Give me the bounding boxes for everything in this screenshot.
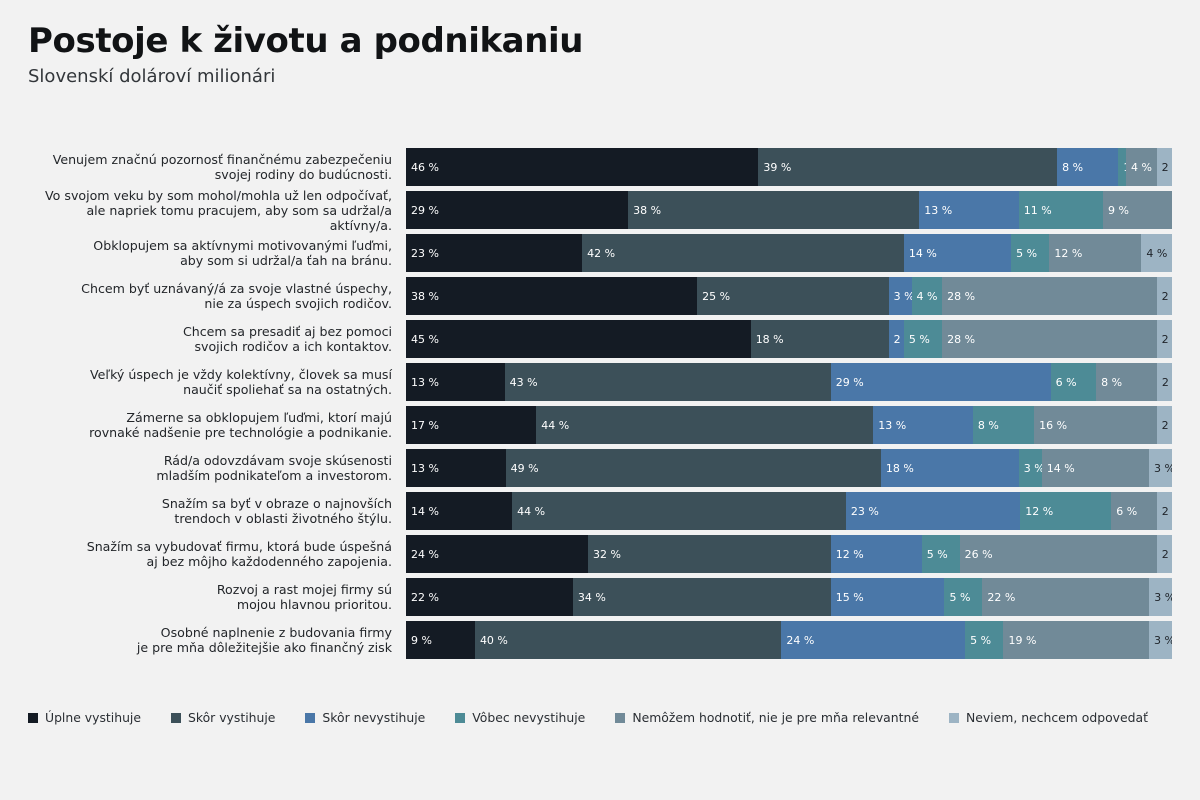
chart-subtitle: Slovenskí dolároví milionári — [28, 66, 583, 88]
chart-segment: 38 % — [628, 191, 919, 229]
chart-row-label: Vo svojom veku by som mohol/mohla už len… — [28, 188, 406, 233]
page-title: Postoje k životu a podnikaniu — [28, 22, 583, 60]
chart-row: Vo svojom veku by som mohol/mohla už len… — [28, 191, 1172, 229]
chart-row-label: Snažím sa byť v obraze o najnovších tren… — [28, 496, 406, 526]
chart-segment: 23 % — [846, 492, 1020, 530]
chart-row-label: Venujem značnú pozornosť finančnému zabe… — [28, 152, 406, 182]
chart-segment: 4 % — [912, 277, 943, 315]
chart-segment: 3 % — [1149, 578, 1172, 616]
chart-segment: 2 % — [1157, 277, 1172, 315]
chart-segment: 12 % — [1049, 234, 1141, 272]
chart-segment: 24 % — [406, 535, 588, 573]
chart-row: Rozvoj a rast mojej firmy sú mojou hlavn… — [28, 578, 1172, 616]
chart-bar: 9 %40 %24 %5 %19 %3 % — [406, 621, 1172, 659]
chart-bar: 17 %44 %13 %8 %16 %2 % — [406, 406, 1172, 444]
chart-page: Postoje k životu a podnikaniu Slovenskí … — [0, 0, 1200, 800]
legend-item-label: Vôbec nevystihuje — [472, 710, 585, 725]
chart-segment: 42 % — [582, 234, 904, 272]
chart-segment: 6 % — [1111, 492, 1157, 530]
chart-segment: 3 % — [1149, 621, 1172, 659]
chart-segment: 40 % — [475, 621, 781, 659]
chart-segment: 9 % — [406, 621, 475, 659]
chart-row: Snažím sa byť v obraze o najnovších tren… — [28, 492, 1172, 530]
chart-segment: 5 % — [922, 535, 960, 573]
chart-segment: 3 % — [1149, 449, 1172, 487]
stacked-bar-chart: Venujem značnú pozornosť finančnému zabe… — [28, 148, 1172, 664]
chart-bar: 46 %39 %8 %1 %4 %2 % — [406, 148, 1172, 186]
chart-segment: 23 % — [406, 234, 582, 272]
chart-segment: 18 % — [751, 320, 889, 358]
chart-bar: 22 %34 %15 %5 %22 %3 % — [406, 578, 1172, 616]
legend-item-label: Nemôžem hodnotiť, nie je pre mňa relevan… — [632, 710, 919, 725]
chart-segment: 24 % — [781, 621, 965, 659]
chart-segment: 2 % — [1157, 406, 1172, 444]
chart-segment: 44 % — [512, 492, 846, 530]
chart-segment: 14 % — [1042, 449, 1149, 487]
chart-bar: 38 %25 %3 %4 %28 %2 % — [406, 277, 1172, 315]
legend-swatch-icon — [455, 713, 465, 723]
chart-segment: 6 % — [1051, 363, 1097, 401]
chart-segment: 25 % — [697, 277, 889, 315]
chart-segment: 5 % — [1011, 234, 1049, 272]
chart-segment: 8 % — [1096, 363, 1157, 401]
legend-item-label: Skôr nevystihuje — [322, 710, 425, 725]
chart-segment: 28 % — [942, 320, 1156, 358]
chart-segment: 12 % — [831, 535, 922, 573]
chart-row-label: Obklopujem sa aktívnymi motivovanými ľuď… — [28, 238, 406, 268]
chart-segment: 4 % — [1141, 234, 1172, 272]
chart-row: Zámerne sa obklopujem ľuďmi, ktorí majú … — [28, 406, 1172, 444]
chart-segment: 1 % — [1118, 148, 1126, 186]
chart-bar: 13 %49 %18 %3 %14 %3 % — [406, 449, 1172, 487]
chart-segment: 14 % — [406, 492, 512, 530]
chart-bar: 14 %44 %23 %12 %6 %2 % — [406, 492, 1172, 530]
chart-row-label: Osobné naplnenie z budovania firmy je pr… — [28, 625, 406, 655]
chart-row-label: Chcem byť uznávaný/á za svoje vlastné ús… — [28, 281, 406, 311]
chart-segment: 28 % — [942, 277, 1156, 315]
chart-segment: 11 % — [1019, 191, 1103, 229]
legend-swatch-icon — [305, 713, 315, 723]
chart-segment: 5 % — [904, 320, 942, 358]
chart-segment: 2 % — [1157, 535, 1172, 573]
chart-segment: 8 % — [1057, 148, 1118, 186]
legend-item[interactable]: Nemôžem hodnotiť, nie je pre mňa relevan… — [615, 710, 919, 725]
chart-segment: 18 % — [881, 449, 1019, 487]
chart-segment: 39 % — [758, 148, 1057, 186]
chart-segment: 15 % — [831, 578, 945, 616]
chart-segment: 3 % — [889, 277, 912, 315]
chart-segment: 2 % — [1157, 492, 1172, 530]
chart-segment: 12 % — [1020, 492, 1111, 530]
chart-bar: 23 %42 %14 %5 %12 %4 % — [406, 234, 1172, 272]
chart-segment: 13 % — [406, 363, 505, 401]
chart-segment: 4 % — [1126, 148, 1157, 186]
chart-segment: 2 % — [1157, 320, 1172, 358]
chart-segment: 32 % — [588, 535, 831, 573]
chart-row-label: Snažím sa vybudovať firmu, ktorá bude ús… — [28, 539, 406, 569]
chart-bar: 24 %32 %12 %5 %26 %2 % — [406, 535, 1172, 573]
chart-segment: 19 % — [1003, 621, 1149, 659]
chart-segment: 16 % — [1034, 406, 1157, 444]
legend-item[interactable]: Vôbec nevystihuje — [455, 710, 585, 725]
chart-row-label: Rozvoj a rast mojej firmy sú mojou hlavn… — [28, 582, 406, 612]
chart-row-label: Veľký úspech je vždy kolektívny, človek … — [28, 367, 406, 397]
chart-row: Rád/a odovzdávam svoje skúsenosti mladší… — [28, 449, 1172, 487]
chart-row: Chcem byť uznávaný/á za svoje vlastné ús… — [28, 277, 1172, 315]
legend-item[interactable]: Neviem, nechcem odpovedať — [949, 710, 1148, 725]
chart-segment: 43 % — [505, 363, 831, 401]
chart-segment: 14 % — [904, 234, 1011, 272]
legend-item-label: Skôr vystihuje — [188, 710, 275, 725]
chart-segment: 5 % — [965, 621, 1003, 659]
legend-item[interactable]: Skôr vystihuje — [171, 710, 275, 725]
chart-row: Venujem značnú pozornosť finančnému zabe… — [28, 148, 1172, 186]
chart-segment: 8 % — [973, 406, 1034, 444]
chart-segment: 22 % — [982, 578, 1149, 616]
legend-swatch-icon — [615, 713, 625, 723]
chart-bar: 29 %38 %13 %11 %9 % — [406, 191, 1172, 229]
chart-segment: 3 % — [1019, 449, 1042, 487]
chart-row: Snažím sa vybudovať firmu, ktorá bude ús… — [28, 535, 1172, 573]
chart-segment: 49 % — [506, 449, 881, 487]
chart-segment: 46 % — [406, 148, 758, 186]
chart-row: Chcem sa presadiť aj bez pomoci svojich … — [28, 320, 1172, 358]
legend-swatch-icon — [949, 713, 959, 723]
chart-row: Veľký úspech je vždy kolektívny, človek … — [28, 363, 1172, 401]
chart-segment: 13 % — [406, 449, 506, 487]
chart-segment: 9 % — [1103, 191, 1172, 229]
chart-segment: 29 % — [831, 363, 1051, 401]
chart-header: Postoje k životu a podnikaniu Slovenskí … — [28, 22, 583, 88]
chart-segment: 34 % — [573, 578, 831, 616]
chart-bar: 13 %43 %29 %6 %8 %2 % — [406, 363, 1172, 401]
legend-swatch-icon — [171, 713, 181, 723]
chart-segment: 2 % — [1157, 148, 1172, 186]
chart-segment: 5 % — [944, 578, 982, 616]
chart-segment: 44 % — [536, 406, 873, 444]
chart-row-label: Rád/a odovzdávam svoje skúsenosti mladší… — [28, 453, 406, 483]
chart-row-label: Chcem sa presadiť aj bez pomoci svojich … — [28, 324, 406, 354]
chart-segment: 2 % — [889, 320, 904, 358]
chart-segment: 17 % — [406, 406, 536, 444]
chart-segment: 13 % — [919, 191, 1019, 229]
chart-segment: 38 % — [406, 277, 697, 315]
chart-segment: 22 % — [406, 578, 573, 616]
legend-item[interactable]: Úplne vystihuje — [28, 710, 141, 725]
chart-row-label: Zámerne sa obklopujem ľuďmi, ktorí majú … — [28, 410, 406, 440]
chart-bar: 45 %18 %2 %5 %28 %2 % — [406, 320, 1172, 358]
chart-segment: 29 % — [406, 191, 628, 229]
legend-item-label: Neviem, nechcem odpovedať — [966, 710, 1148, 725]
chart-row: Osobné naplnenie z budovania firmy je pr… — [28, 621, 1172, 659]
legend-item[interactable]: Skôr nevystihuje — [305, 710, 425, 725]
chart-row: Obklopujem sa aktívnymi motivovanými ľuď… — [28, 234, 1172, 272]
chart-segment: 26 % — [960, 535, 1157, 573]
chart-segment: 2 % — [1157, 363, 1172, 401]
chart-segment: 13 % — [873, 406, 973, 444]
chart-segment: 45 % — [406, 320, 751, 358]
legend-swatch-icon — [28, 713, 38, 723]
chart-legend: Úplne vystihujeSkôr vystihujeSkôr nevyst… — [28, 710, 1172, 725]
legend-item-label: Úplne vystihuje — [45, 710, 141, 725]
